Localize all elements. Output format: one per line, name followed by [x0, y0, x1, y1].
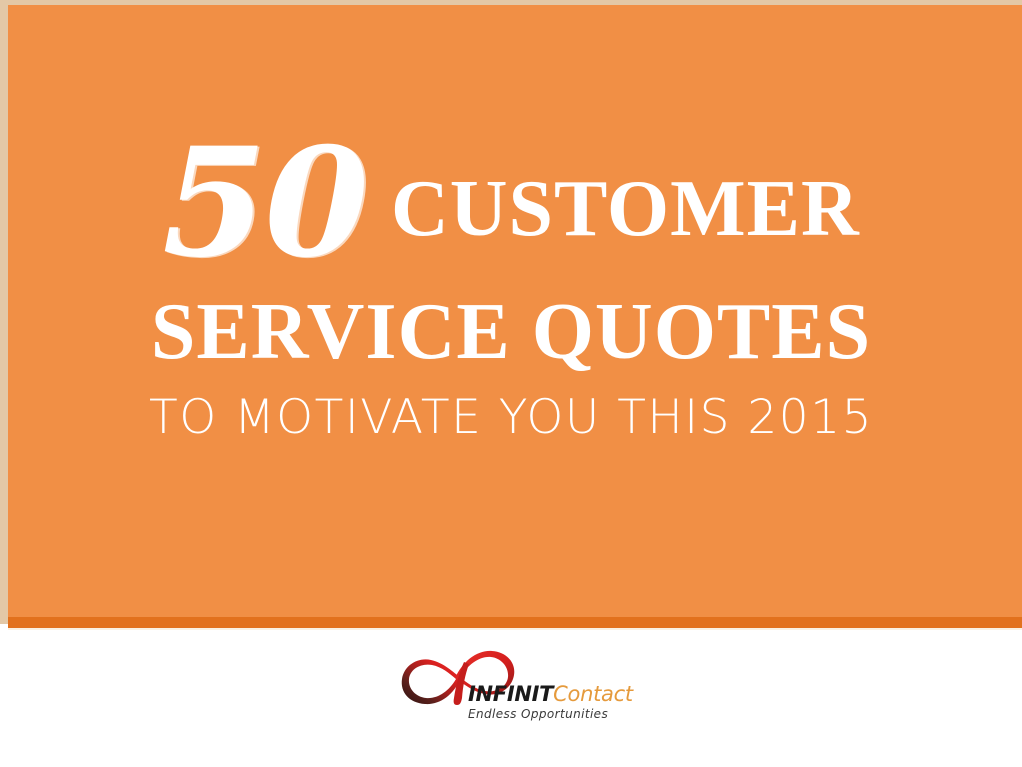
title-line-1: 50CUSTOMER [0, 128, 1022, 278]
title-subtitle: TO MOTIVATE YOU THIS 2015 [0, 394, 1022, 441]
slide-canvas: 50CUSTOMER SERVICE QUOTES TO MOTIVATE YO… [0, 0, 1022, 767]
brand-logo-type: INFINITContact Endless Opportunities [468, 684, 624, 720]
brand-name-secondary: Contact [553, 682, 633, 706]
hero-panel-hairline [8, 628, 1022, 630]
title-number: 50 [162, 115, 367, 291]
title-headline-word: CUSTOMER [391, 165, 860, 253]
brand-logo-inner: INFINITContact Endless Opportunities [399, 648, 623, 732]
brand-wordmark: INFINITContact [468, 684, 624, 705]
brand-tagline: Endless Opportunities [468, 708, 624, 720]
title-line-2: SERVICE QUOTES [0, 292, 1022, 372]
title-block: 50CUSTOMER SERVICE QUOTES TO MOTIVATE YO… [0, 128, 1022, 441]
hero-panel-bottom-stripe [8, 617, 1022, 628]
brand-name-primary: INFINIT [468, 682, 553, 706]
brand-logo: INFINITContact Endless Opportunities [0, 648, 1022, 732]
